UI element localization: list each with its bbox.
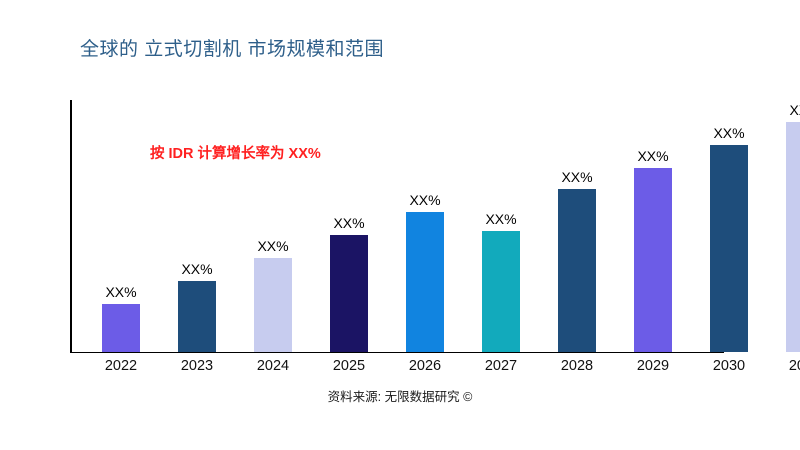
source-note: 资料来源: 无限数据研究 ©: [0, 386, 800, 405]
bar-2029[interactable]: XX%: [634, 168, 672, 352]
bar-value-label-2022: XX%: [105, 284, 136, 300]
bar-value-label-2024: XX%: [257, 238, 288, 254]
bar-2028[interactable]: XX%: [558, 189, 596, 352]
bar-rect-2031: [786, 122, 800, 352]
chart-title: 全球的 立式切割机 市场规模和范围: [80, 34, 384, 61]
bar-value-label-2030: XX%: [713, 125, 744, 141]
bar-value-label-2026: XX%: [409, 192, 440, 208]
x-tick-label-2031: 2031: [775, 358, 800, 374]
bar-rect-2024: [254, 258, 292, 352]
bar-rect-2025: [330, 235, 368, 352]
x-axis-line: [70, 352, 724, 354]
x-tick-label-2026: 2026: [395, 358, 455, 374]
bar-2026[interactable]: XX%: [406, 212, 444, 352]
bar-value-label-2025: XX%: [333, 215, 364, 231]
bar-value-label-2029: XX%: [637, 148, 668, 164]
bar-rect-2030: [710, 145, 748, 352]
bar-value-label-2027: XX%: [485, 211, 516, 227]
x-tick-label-2023: 2023: [167, 358, 227, 374]
bar-value-label-2023: XX%: [181, 261, 212, 277]
bar-2022[interactable]: XX%: [102, 304, 140, 352]
bar-2027[interactable]: XX%: [482, 231, 520, 352]
bar-rect-2022: [102, 304, 140, 352]
bar-rect-2026: [406, 212, 444, 352]
bar-value-label-2031: XX%: [789, 102, 800, 118]
bar-chart: 全球的 立式切割机 市场规模和范围 百万美元 按 IDR 计算增长率为 XX% …: [0, 0, 800, 450]
x-tick-label-2030: 2030: [699, 358, 759, 374]
x-tick-label-2022: 2022: [91, 358, 151, 374]
y-axis-line: [70, 100, 72, 353]
x-tick-label-2029: 2029: [623, 358, 683, 374]
bar-2025[interactable]: XX%: [330, 235, 368, 352]
x-tick-label-2024: 2024: [243, 358, 303, 374]
bar-2031[interactable]: XX%: [786, 122, 800, 352]
bar-2030[interactable]: XX%: [710, 145, 748, 352]
growth-rate-annotation: 按 IDR 计算增长率为 XX%: [150, 142, 321, 163]
bar-rect-2028: [558, 189, 596, 352]
bar-rect-2023: [178, 281, 216, 352]
bar-value-label-2028: XX%: [561, 169, 592, 185]
bar-2024[interactable]: XX%: [254, 258, 292, 352]
bar-rect-2029: [634, 168, 672, 352]
x-tick-label-2027: 2027: [471, 358, 531, 374]
x-tick-label-2025: 2025: [319, 358, 379, 374]
bar-2023[interactable]: XX%: [178, 281, 216, 352]
x-tick-label-2028: 2028: [547, 358, 607, 374]
bar-rect-2027: [482, 231, 520, 352]
